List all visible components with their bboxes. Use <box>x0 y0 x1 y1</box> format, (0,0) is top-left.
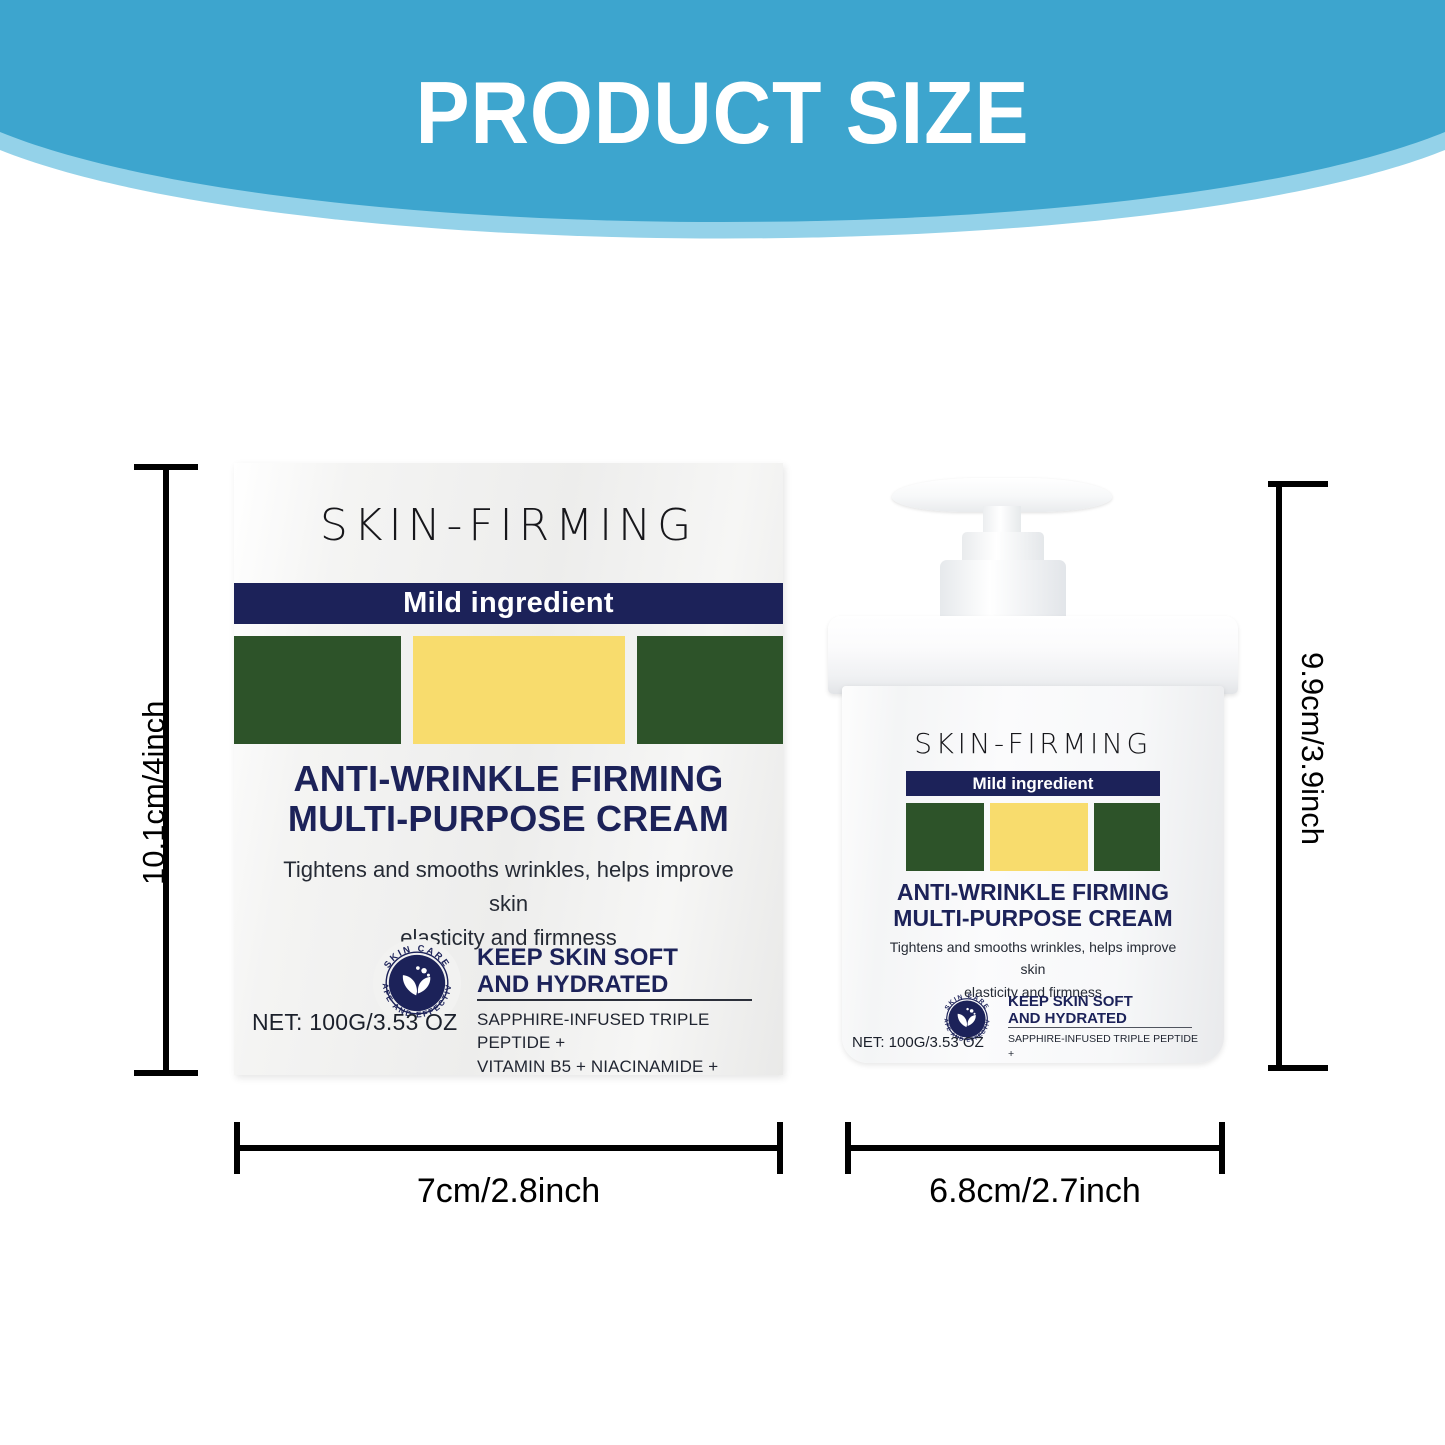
swatch-green-left <box>234 636 401 744</box>
jar-divider-rule <box>1008 1027 1192 1028</box>
box-keep-line-1: KEEP SKIN SOFT <box>477 945 678 972</box>
box-ingredients-line-2: VITAMIN B5 + NIACINAMIDE + HYAL- <box>477 1055 759 1075</box>
box-headline: ANTI-WRINKLE FIRMING MULTI-PURPOSE CREAM <box>234 759 783 839</box>
box-headline-line-2: MULTI-PURPOSE CREAM <box>234 799 783 839</box>
jar-headline-line-1: ANTI-WRINKLE FIRMING <box>842 879 1224 905</box>
jar-headline: ANTI-WRINKLE FIRMING MULTI-PURPOSE CREAM <box>842 879 1224 931</box>
jar-width-label: 6.8cm/2.7inch <box>835 1172 1235 1211</box>
box-ingredients: SAPPHIRE-INFUSED TRIPLE PEPTIDE + VITAMI… <box>477 1008 759 1075</box>
jar-headline-line-2: MULTI-PURPOSE CREAM <box>842 905 1224 931</box>
jar-height-label: 9.9cm/3.9inch <box>1294 652 1330 845</box>
swatch-gap-right <box>625 636 637 744</box>
jar-keep-claim: KEEP SKIN SOFT AND HYDRATED <box>1008 993 1133 1027</box>
jar-ingredients-line-1: SAPPHIRE-INFUSED TRIPLE PEPTIDE + <box>1008 1032 1198 1062</box>
jar-keep-line-2: AND HYDRATED <box>1008 1010 1133 1027</box>
swatch-gap-left <box>401 636 413 744</box>
box-footer: SKIN CARE SAFE AND EFFECTIVE KEEP SK <box>234 933 783 1053</box>
box-keep-claim: KEEP SKIN SOFT AND HYDRATED <box>477 945 678 999</box>
box-height-cap-top <box>134 464 198 470</box>
jar-ingredients-line-2: VITAMIN B5 + NIACINAMIDE + HYAL- <box>1008 1062 1198 1063</box>
box-divider-rule <box>477 999 752 1001</box>
jar-footer: SKIN CARE SAFE AND EFFECTIVE KEEP SK <box>842 986 1224 1063</box>
box-width-line <box>234 1145 783 1151</box>
jar-height-line <box>1276 481 1282 1071</box>
box-description-line-1: Tightens and smooths wrinkles, helps imp… <box>262 853 755 921</box>
box-height-label: 10.1cm/4inch <box>136 701 172 885</box>
jar-width-cap-right <box>1219 1122 1225 1174</box>
product-box-carton[interactable]: SKIN-FIRMING Mild ingredient ANTI-WRINKL… <box>234 463 783 1075</box>
jar-height-cap-top <box>1268 481 1328 487</box>
box-width-cap-left <box>234 1122 240 1174</box>
box-brand-title: SKIN-FIRMING <box>234 500 783 551</box>
box-keep-line-2: AND HYDRATED <box>477 972 678 999</box>
box-width-cap-right <box>777 1122 783 1174</box>
box-height-cap-bottom <box>134 1070 198 1076</box>
swatch-green-right <box>637 636 783 744</box>
jar-brand-title: SKIN-FIRMING <box>842 727 1224 760</box>
jar-keep-line-1: KEEP SKIN SOFT <box>1008 993 1133 1010</box>
product-pump-jar[interactable]: SKIN-FIRMING Mild ingredient ANTI-WRINKL… <box>820 470 1250 1075</box>
jar-mild-ingredient-label: Mild ingredient <box>973 774 1094 794</box>
jar-net-weight: NET: 100G/3.53 OZ <box>852 1034 984 1051</box>
box-headline-line-1: ANTI-WRINKLE FIRMING <box>234 759 783 799</box>
jar-description-line-1: Tightens and smooths wrinkles, helps imp… <box>884 936 1182 981</box>
jar-mild-ingredient-band: Mild ingredient <box>906 771 1160 796</box>
jar-width-line <box>845 1145 1225 1151</box>
box-ingredients-line-1: SAPPHIRE-INFUSED TRIPLE PEPTIDE + <box>477 1008 759 1055</box>
box-mild-ingredient-band: Mild ingredient <box>234 583 783 624</box>
page-title: PRODUCT SIZE <box>58 62 1387 164</box>
jar-body-label: SKIN-FIRMING Mild ingredient ANTI-WRINKL… <box>842 686 1224 1063</box>
jar-width-cap-left <box>845 1122 851 1174</box>
jar-swatch-yellow-center <box>990 803 1088 871</box>
box-mild-ingredient-label: Mild ingredient <box>403 587 614 620</box>
jar-ingredients: SAPPHIRE-INFUSED TRIPLE PEPTIDE + VITAMI… <box>1008 1032 1198 1063</box>
pump-shoulder-lower <box>940 560 1066 620</box>
jar-swatch-green-left <box>906 803 984 871</box>
header-banner: PRODUCT SIZE <box>0 0 1445 300</box>
jar-swatch-green-right <box>1094 803 1160 871</box>
jar-height-cap-bottom <box>1268 1065 1328 1071</box>
jar-cap <box>828 616 1238 694</box>
box-color-swatches <box>234 636 783 744</box>
box-net-weight: NET: 100G/3.53 OZ <box>252 1009 457 1036</box>
swatch-yellow-center <box>413 636 625 744</box>
jar-color-swatches <box>906 803 1160 871</box>
